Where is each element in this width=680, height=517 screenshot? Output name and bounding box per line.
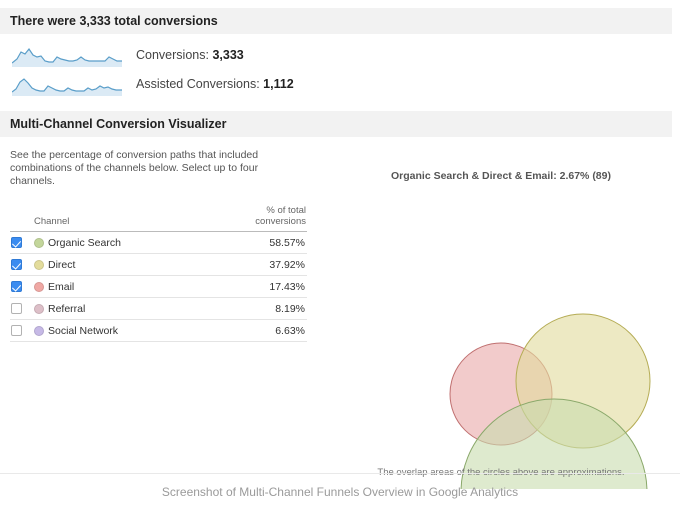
- metric-name-conversions: Conversions:: [136, 48, 212, 62]
- channel-label: Email: [48, 281, 74, 293]
- channel-table-header-percent: % of total conversions: [235, 204, 307, 232]
- channel-percent-cell: 58.57%: [235, 232, 307, 254]
- summary-metrics-list: Conversions: 3,333 Assisted Conversions:…: [0, 34, 672, 106]
- metric-value-assisted-conversions: 1,112: [263, 77, 294, 91]
- color-swatch-icon: [34, 326, 44, 336]
- channel-checkbox-cell[interactable]: [10, 298, 30, 320]
- color-swatch-icon: [34, 260, 44, 270]
- channel-name-cell: Social Network: [30, 320, 235, 342]
- channel-checkbox-email[interactable]: [11, 281, 22, 292]
- visualizer-panel-title: Multi-Channel Conversion Visualizer: [0, 111, 672, 137]
- channel-percent-cell: 37.92%: [235, 254, 307, 276]
- table-row[interactable]: Referral 8.19%: [10, 298, 307, 320]
- channel-percent-cell: 17.43%: [235, 276, 307, 298]
- conversions-summary-panel: There were 3,333 total conversions Conve…: [0, 8, 672, 106]
- channel-name-cell: Organic Search: [30, 232, 235, 254]
- metric-label-conversions: Conversions: 3,333: [136, 48, 244, 62]
- visualizer-body: See the percentage of conversion paths t…: [0, 137, 672, 489]
- channel-checkbox-referral[interactable]: [11, 303, 22, 314]
- visualizer-description: See the percentage of conversion paths t…: [10, 149, 300, 188]
- channel-label: Social Network: [48, 325, 118, 337]
- channel-label: Referral: [48, 303, 85, 315]
- channel-checkbox-cell[interactable]: [10, 276, 30, 298]
- table-row[interactable]: Organic Search 58.57%: [10, 232, 307, 254]
- channel-name-cell: Referral: [30, 298, 235, 320]
- channel-label: Organic Search: [48, 237, 121, 249]
- metric-row-conversions: Conversions: 3,333: [0, 42, 672, 68]
- channel-name-cell: Email: [30, 276, 235, 298]
- summary-panel-title: There were 3,333 total conversions: [0, 8, 672, 34]
- caption: Screenshot of Multi-Channel Funnels Over…: [0, 485, 680, 499]
- channel-checkbox-cell[interactable]: [10, 254, 30, 276]
- metric-name-assisted-conversions: Assisted Conversions:: [136, 77, 263, 91]
- venn-circles[interactable]: [450, 314, 650, 489]
- color-swatch-icon: [34, 304, 44, 314]
- metric-row-assisted-conversions: Assisted Conversions: 1,112: [0, 71, 672, 97]
- table-row[interactable]: Email 17.43%: [10, 276, 307, 298]
- channel-table: Channel % of total conversions Organic S…: [10, 204, 307, 342]
- channel-checkbox-social-network[interactable]: [11, 325, 22, 336]
- channel-percent-cell: 6.63%: [235, 320, 307, 342]
- metric-label-assisted-conversions: Assisted Conversions: 1,112: [136, 77, 294, 91]
- channel-percent-cell: 8.19%: [235, 298, 307, 320]
- channel-checkbox-direct[interactable]: [11, 259, 22, 270]
- channel-name-cell: Direct: [30, 254, 235, 276]
- channel-label: Direct: [48, 259, 75, 271]
- multi-channel-conversion-visualizer-panel: Multi-Channel Conversion Visualizer See …: [0, 111, 672, 489]
- channel-table-header-channel: Channel: [30, 204, 235, 232]
- table-row[interactable]: Social Network 6.63%: [10, 320, 307, 342]
- channel-table-header-row: Channel % of total conversions: [10, 204, 307, 232]
- metric-value-conversions: 3,333: [212, 48, 243, 62]
- channel-checkbox-organic-search[interactable]: [11, 237, 22, 248]
- color-swatch-icon: [34, 238, 44, 248]
- venn-diagram[interactable]: [330, 137, 672, 489]
- color-swatch-icon: [34, 282, 44, 292]
- table-row[interactable]: Direct 37.92%: [10, 254, 307, 276]
- venn-diagram-column: Organic Search & Direct & Email: 2.67% (…: [330, 137, 672, 489]
- sparkline-icon: [12, 72, 122, 96]
- channel-checkbox-cell[interactable]: [10, 320, 30, 342]
- channel-checkbox-cell[interactable]: [10, 232, 30, 254]
- sparkline-icon: [12, 43, 122, 67]
- channel-selection-column: See the percentage of conversion paths t…: [10, 149, 310, 342]
- channel-table-header-checkbox: [10, 204, 30, 232]
- caption-divider: [0, 473, 680, 474]
